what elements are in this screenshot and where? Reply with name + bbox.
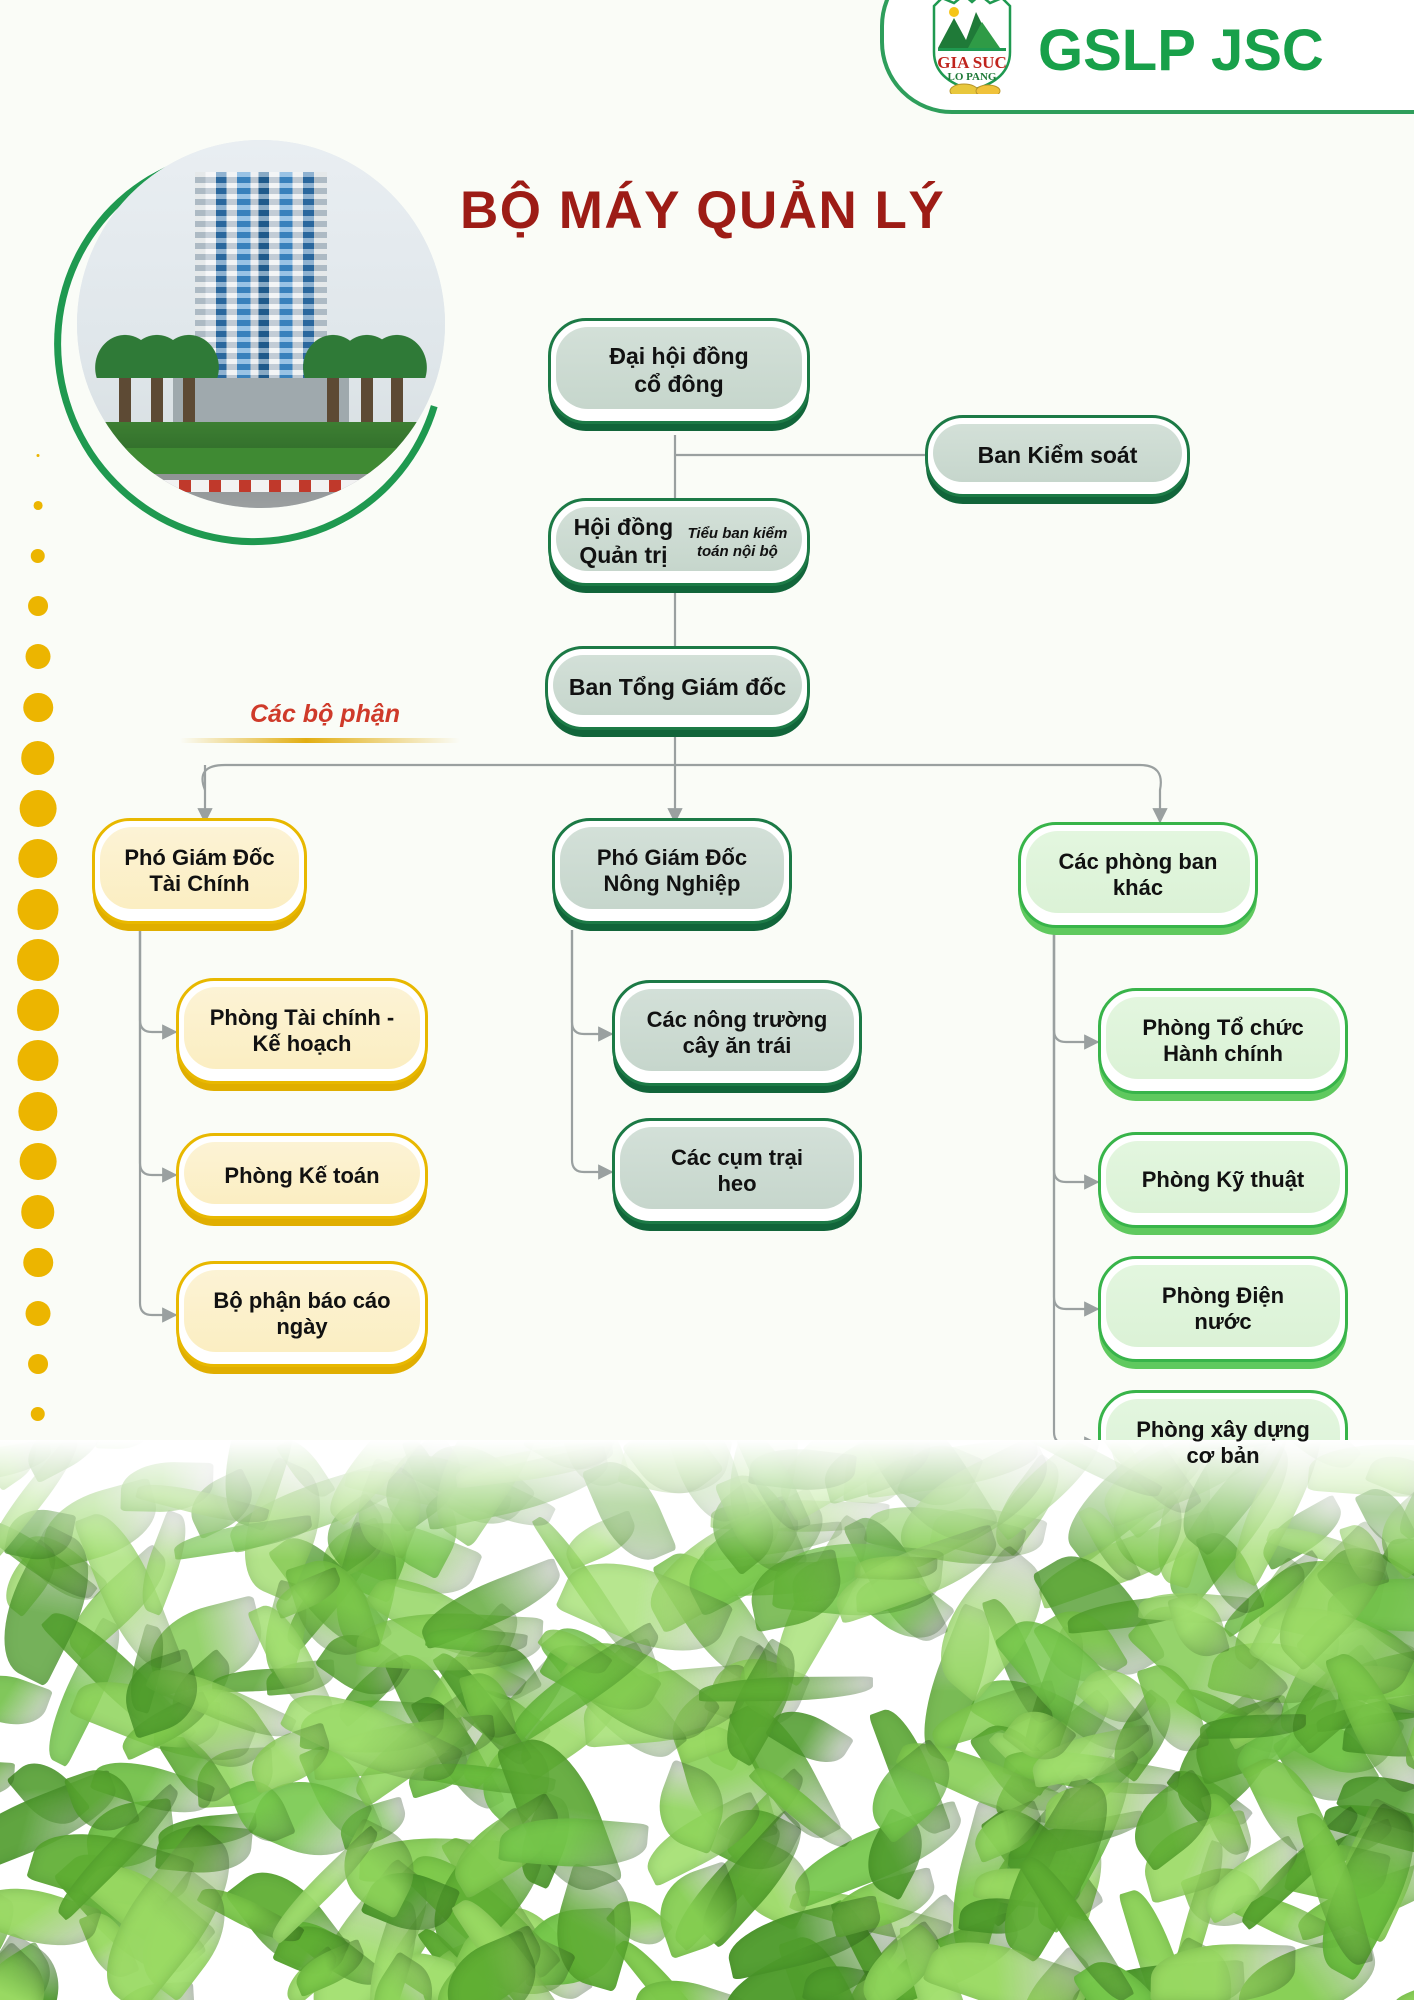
node-label: Hội đồng Quản trị [565,514,682,569]
section-label-underline [180,738,460,743]
node-label-line2: cây ăn trái [647,1033,828,1059]
node-label-line2: Kế hoạch [210,1031,395,1057]
node-label-line1: Phòng Tổ chức [1142,1015,1303,1041]
node-phong-ky-thuat[interactable]: Phòng Kỹ thuật [1098,1132,1348,1228]
node-bo-phan-bao-cao-ngay[interactable]: Bộ phận báo cáo ngày [176,1261,428,1367]
node-cac-nong-truong-cay-an-trai[interactable]: Các nông trường cây ăn trái [612,980,862,1086]
node-label-line2: Hành chính [1142,1041,1303,1067]
node-label-line2: khác [1059,875,1218,901]
node-label-line1: Phòng Điện [1162,1283,1284,1309]
node-pho-giam-doc-nong-nghiep[interactable]: Phó Giám Đốc Nông Nghiệp [552,818,792,924]
node-phong-tai-chinh-ke-hoach[interactable]: Phòng Tài chính - Kế hoạch [176,978,428,1084]
node-label-line2: Nông Nghiệp [597,871,747,897]
node-phong-to-chuc-hanh-chinh[interactable]: Phòng Tổ chức Hành chính [1098,988,1348,1094]
node-ban-kiem-soat[interactable]: Ban Kiểm soát [925,415,1190,497]
node-pho-giam-doc-tai-chinh[interactable]: Phó Giám Đốc Tài Chính [92,818,307,924]
node-label-line1: Phòng xây dựng [1136,1417,1310,1443]
node-ban-tong-giam-doc[interactable]: Ban Tổng Giám đốc [545,646,810,730]
node-label-line2: nước [1162,1309,1284,1335]
node-label: Ban Kiểm soát [978,442,1138,470]
node-label: Phòng Kỹ thuật [1142,1167,1305,1193]
node-cac-cum-trai-heo[interactable]: Các cụm trại heo [612,1118,862,1224]
node-label: Phòng Kế toán [224,1163,379,1189]
node-label-line1: Phó Giám Đốc [597,845,747,871]
org-chart: Đại hội đồng cổ đông Ban Kiểm soát Hội đ… [0,0,1414,1500]
leaf [1392,1964,1414,2000]
node-label-line2: cổ đông [609,371,748,399]
node-phong-dien-nuoc[interactable]: Phòng Điện nước [1098,1256,1348,1362]
node-phong-ke-toan[interactable]: Phòng Kế toán [176,1133,428,1219]
node-cac-phong-ban-khac[interactable]: Các phòng ban khác [1018,822,1258,928]
node-label-line2: cơ bản [1136,1443,1310,1469]
node-label-line1: Các phòng ban [1059,849,1218,875]
leaves-photo-band [0,1440,1414,2000]
node-label-line2: heo [671,1171,803,1197]
node-label-line1: Đại hội đồng [609,343,748,371]
node-label-line1: Phó Giám Đốc [124,845,274,871]
leaf [0,1759,15,1799]
node-label-line2: Tài Chính [124,871,274,897]
node-label: Ban Tổng Giám đốc [569,674,786,702]
node-hoi-dong-quan-tri[interactable]: Hội đồng Quản trị Tiểu ban kiểm toán nội… [548,498,810,586]
section-label: Các bộ phận [250,700,400,729]
node-label-line1: Bộ phận báo cáo [213,1288,390,1314]
node-label-line1: Phòng Tài chính - [210,1005,395,1031]
node-label-line1: Các nông trường [647,1007,828,1033]
node-label-line2: ngày [213,1314,390,1340]
node-sublabel: Tiểu ban kiểm toán nội bộ [682,525,793,561]
node-dai-hoi-dong-co-dong[interactable]: Đại hội đồng cổ đông [548,318,810,424]
node-label-line1: Các cụm trại [671,1145,803,1171]
